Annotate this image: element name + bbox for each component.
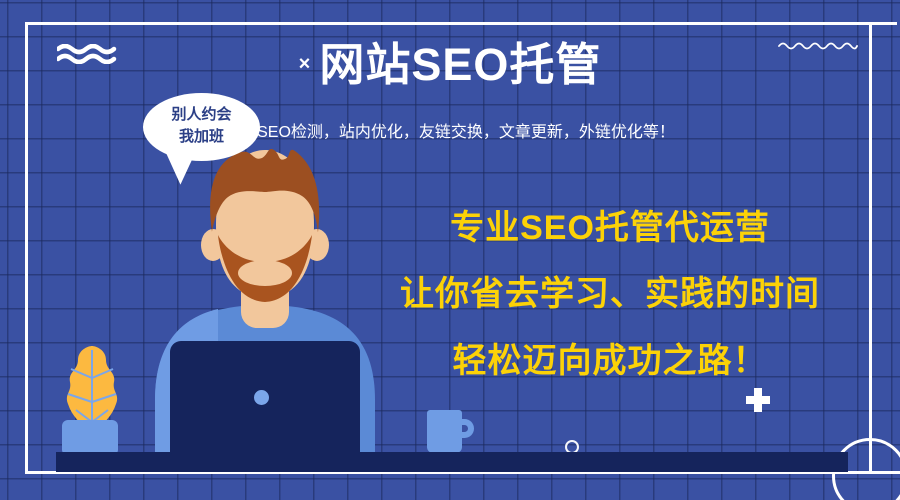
plus-mark-decoration [746,388,770,412]
poster-frame-right-edge [869,22,872,474]
desk-surface [56,452,848,472]
coffee-mug [427,410,462,453]
mouth-shape [238,260,292,286]
speech-bubble-text: 别人约会 我加班 [143,104,260,148]
plant-pot [62,420,118,454]
speech-bubble: 别人约会 我加班 [143,93,260,161]
seo-hosting-poster: ×网站SEO托管 含：SEO检测，站内优化，友链交换，文章更新，外链优化等！ 专… [0,0,900,500]
laptop [170,341,360,454]
laptop-logo-dot [254,390,269,405]
